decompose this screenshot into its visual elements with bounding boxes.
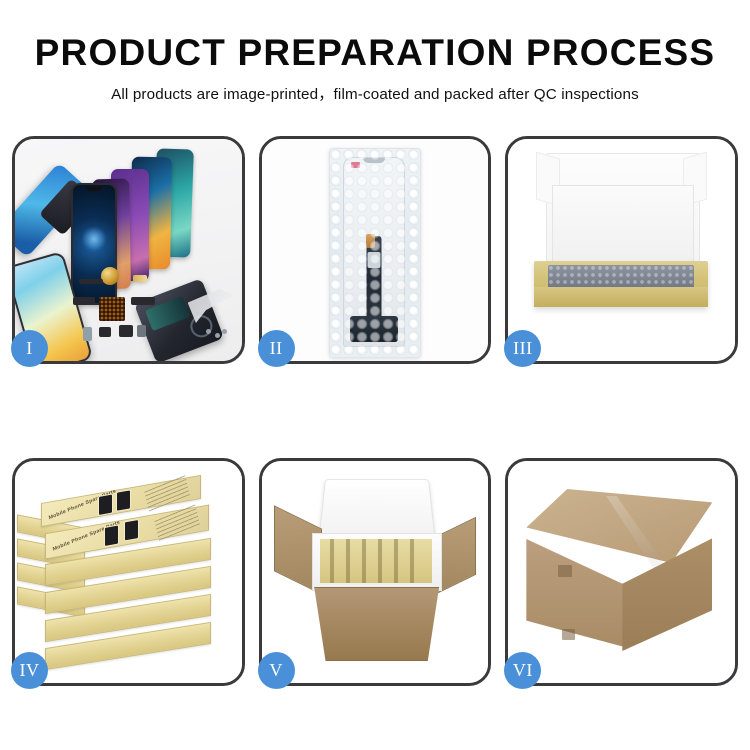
product-preparation-infographic: PRODUCT PREPARATION PROCESS All products… xyxy=(0,0,750,750)
step-5-photo xyxy=(262,461,489,683)
yellow-box-tray xyxy=(534,261,708,307)
process-step-panel-1: I xyxy=(12,136,245,364)
step-1-photo xyxy=(15,139,242,361)
page-title: PRODUCT PREPARATION PROCESS xyxy=(0,34,750,73)
carton-tab-lower xyxy=(562,629,575,640)
box-thumbnail-1a xyxy=(98,493,113,516)
step-6-photo xyxy=(508,461,735,683)
white-foam-sheet xyxy=(552,185,694,265)
process-step-grid: I II xyxy=(12,136,738,686)
screen-flex-cable xyxy=(366,236,381,320)
screen-bottom-connector xyxy=(350,316,398,342)
process-step-panel-4: Mobile Phone Spare Parts Mobile Phone Sp… xyxy=(12,458,245,686)
step-badge-6: VI xyxy=(504,652,541,689)
wrapped-screen xyxy=(343,157,405,347)
phone-notch xyxy=(86,187,102,191)
carton-body xyxy=(306,587,448,661)
sim-tray-part xyxy=(83,327,92,341)
header: PRODUCT PREPARATION PROCESS All products… xyxy=(0,0,750,104)
button-part xyxy=(99,327,111,337)
pink-label-sticker xyxy=(351,162,360,168)
earpiece-part xyxy=(79,279,103,284)
box-stack: Mobile Phone Spare Parts Mobile Phone Sp… xyxy=(15,461,242,683)
sealed-carton xyxy=(526,489,712,653)
yellow-boxes-inside xyxy=(320,539,432,583)
step-badge-2: II xyxy=(258,330,295,367)
page-subtitle: All products are image-printed，film-coat… xyxy=(0,82,750,104)
flex-cable-part xyxy=(73,297,95,305)
step-badge-3: III xyxy=(504,330,541,367)
process-step-panel-2: II xyxy=(259,136,492,364)
speaker-coil-part xyxy=(101,267,119,285)
step-badge-5: V xyxy=(258,652,295,689)
step-4-photo: Mobile Phone Spare Parts Mobile Phone Sp… xyxy=(15,461,242,683)
box-spec-lines-2 xyxy=(154,504,200,541)
box-thumbnail-1b xyxy=(116,489,131,512)
vibrator-part xyxy=(119,325,133,337)
power-flex-part xyxy=(131,297,155,305)
process-step-panel-5: V xyxy=(259,458,492,686)
carton-tab-upper xyxy=(558,565,572,577)
flex-tan-connector-left xyxy=(366,234,375,248)
foam-lid xyxy=(318,479,435,539)
mesh-grid-part xyxy=(99,297,125,321)
screen-notch xyxy=(363,158,385,163)
process-step-panel-3: III xyxy=(505,136,738,364)
camera-part xyxy=(137,325,146,337)
step-badge-1: I xyxy=(11,330,48,367)
phone-screen-front-glass xyxy=(71,183,117,305)
tray-front-face xyxy=(534,287,708,307)
gold-flex-part xyxy=(133,275,147,282)
screws-group xyxy=(206,329,228,341)
box-spec-lines-1 xyxy=(144,474,190,511)
box-thumbnail-2b xyxy=(124,519,139,542)
process-step-panel-6: VI xyxy=(505,458,738,686)
flex-chip xyxy=(367,252,380,268)
step-3-photo xyxy=(508,139,735,361)
phone-chassis xyxy=(134,278,224,361)
step-badge-4: IV xyxy=(11,652,48,689)
step-2-photo xyxy=(262,139,489,361)
bubble-wrap-bag xyxy=(329,148,421,358)
box-thumbnail-2a xyxy=(104,524,119,547)
